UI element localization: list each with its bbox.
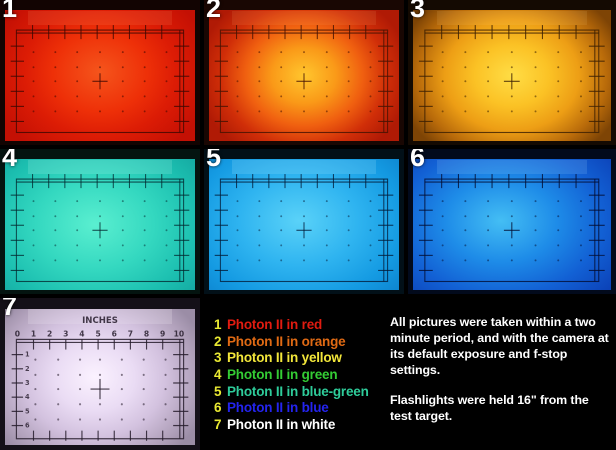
- legend-item: 7 Photon II in white: [214, 418, 384, 432]
- legend-number: 1: [214, 318, 227, 332]
- panel-number-5: 5: [206, 149, 221, 171]
- panel-4-target-overlay: [5, 159, 195, 290]
- panel-1-target-overlay: [5, 10, 195, 141]
- panel-3-card: [413, 10, 611, 141]
- notes-paragraph-2: Flashlights were held 16" from the test …: [390, 392, 612, 424]
- panel-number-1: 1: [2, 0, 17, 22]
- legend-item: 5 Photon II in blue-green: [214, 385, 384, 399]
- svg-text:5: 5: [95, 329, 100, 338]
- svg-text:7: 7: [128, 329, 133, 338]
- panel-2-photo: [204, 0, 404, 145]
- photo-panel-1: 1: [0, 0, 200, 145]
- panel-3-target-overlay: [413, 10, 611, 141]
- panel-number-3: 3: [410, 0, 425, 22]
- color-legend: 1 Photon II in red 2 Photon II in orange…: [214, 318, 384, 435]
- panel-7-photo: INCHES 012 345 678 910: [0, 298, 200, 450]
- panel-number-6: 6: [410, 149, 425, 171]
- notes-block: All pictures were taken within a two min…: [390, 314, 612, 424]
- panel-number-2: 2: [206, 0, 221, 22]
- legend-item: 4 Photon II in green: [214, 368, 384, 382]
- svg-text:5: 5: [25, 407, 30, 415]
- panel-7-target-overlay: INCHES 012 345 678 910: [5, 309, 195, 446]
- inches-label: INCHES: [82, 316, 118, 326]
- legend-number: 3: [214, 351, 227, 365]
- svg-text:2: 2: [25, 364, 30, 372]
- legend-label: Photon II in orange: [227, 335, 345, 349]
- photo-panel-7: INCHES 012 345 678 910: [0, 298, 200, 450]
- legend-label: Photon II in green: [227, 368, 337, 382]
- svg-text:8: 8: [144, 329, 149, 338]
- svg-text:1: 1: [31, 329, 36, 338]
- panel-2-card: [209, 10, 399, 141]
- panel-5-card: [209, 159, 399, 290]
- photo-panel-6: 6: [408, 149, 616, 294]
- legend-label: Photon II in blue: [227, 401, 329, 415]
- legend-number: 7: [214, 418, 227, 432]
- svg-text:6: 6: [25, 421, 30, 429]
- legend-number: 6: [214, 401, 227, 415]
- legend-label: Photon II in blue-green: [227, 385, 369, 399]
- panel-number-4: 4: [2, 149, 17, 171]
- legend-item: 3 Photon II in yellow: [214, 351, 384, 365]
- panel-2-target-overlay: [209, 10, 399, 141]
- panel-6-card: [413, 159, 611, 290]
- svg-text:0: 0: [15, 329, 21, 338]
- svg-text:4: 4: [79, 329, 85, 338]
- photo-panel-5: 5: [204, 149, 404, 294]
- panel-3-photo: [408, 0, 616, 145]
- legend-label: Photon II in yellow: [227, 351, 342, 365]
- legend-item: 2 Photon II in orange: [214, 335, 384, 349]
- panel-6-photo: [408, 149, 616, 294]
- photo-panel-2: 2: [204, 0, 404, 145]
- legend-number: 2: [214, 335, 227, 349]
- comparison-sheet: 1: [0, 0, 616, 450]
- legend-label: Photon II in red: [227, 318, 322, 332]
- legend-number: 4: [214, 368, 227, 382]
- panel-4-photo: [0, 149, 200, 294]
- panel-5-photo: [204, 149, 404, 294]
- svg-text:3: 3: [63, 329, 68, 338]
- svg-text:3: 3: [25, 378, 30, 386]
- panel-4-card: [5, 159, 195, 290]
- svg-text:4: 4: [25, 393, 30, 401]
- photo-panel-4: 4: [0, 149, 200, 294]
- legend-item: 6 Photon II in blue: [214, 401, 384, 415]
- svg-text:2: 2: [47, 329, 52, 338]
- svg-text:10: 10: [174, 329, 185, 338]
- panel-1-photo: [0, 0, 200, 145]
- panel-number-7: 7: [2, 298, 17, 320]
- panel-5-target-overlay: [209, 159, 399, 290]
- svg-text:6: 6: [112, 329, 118, 338]
- panel-1-card: [5, 10, 195, 141]
- legend-label: Photon II in white: [227, 418, 335, 432]
- notes-paragraph-1: All pictures were taken within a two min…: [390, 314, 612, 379]
- svg-text:9: 9: [160, 329, 165, 338]
- legend-item: 1 Photon II in red: [214, 318, 384, 332]
- panel-7-card: INCHES 012 345 678 910: [5, 309, 195, 446]
- legend-number: 5: [214, 385, 227, 399]
- panel-6-target-overlay: [413, 159, 611, 290]
- photo-panel-3: 3: [408, 0, 616, 145]
- svg-text:1: 1: [25, 350, 30, 358]
